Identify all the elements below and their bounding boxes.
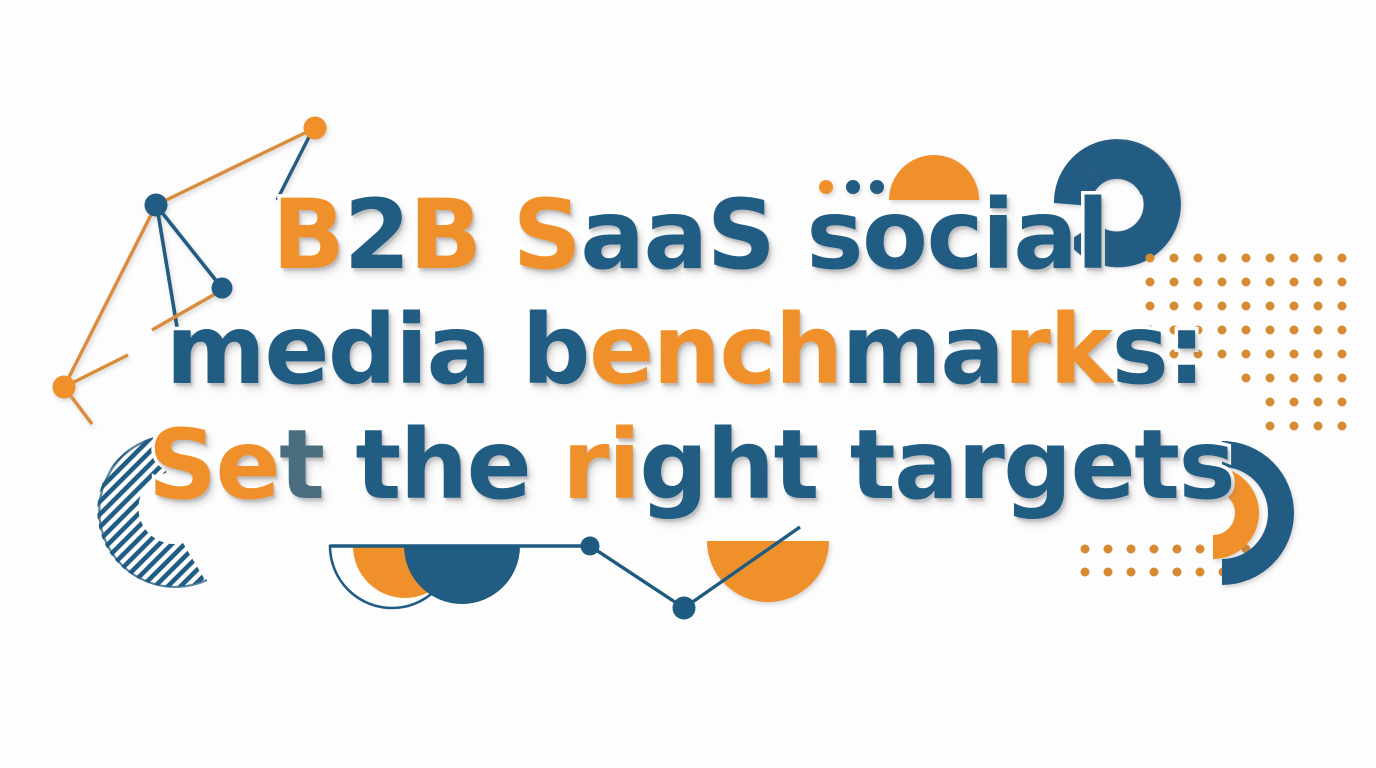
edge-orange-n2-n1 (156, 128, 315, 205)
edge-orange-n3-stub (152, 290, 222, 330)
semicircle-orange-top-icon (889, 155, 979, 200)
network-node-orange-1 (304, 117, 327, 140)
dot-grid-row (1146, 278, 1347, 287)
dot-grid-row (1146, 326, 1347, 335)
title-graphic-canvas: B2B SaaS social media benchmarks: Set th… (0, 0, 1376, 768)
dot-blue-2 (870, 180, 884, 194)
network-node-blue-2 (212, 278, 233, 299)
dot-grid-row (1266, 398, 1347, 407)
dot-blue-1 (846, 180, 860, 194)
dot-row-top-center (819, 180, 884, 194)
dot-orange (819, 180, 833, 194)
network-node-bottom-2 (673, 597, 696, 620)
striped-crescent-left (97, 435, 207, 587)
arc-orange-inner (1213, 467, 1259, 559)
decoration-layer (0, 0, 1376, 768)
dot-grid-row (1146, 350, 1347, 359)
edge-orange-n2-n4 (64, 205, 156, 387)
arc-blue-top-right-icon-body (1030, 116, 1206, 292)
network-node-blue-1 (145, 194, 168, 217)
network-node-orange-2 (53, 376, 76, 399)
network-node-bottom-1 (581, 537, 600, 556)
dot-grid-row (1146, 302, 1347, 311)
dot-grid-row (1242, 374, 1347, 383)
dot-grid-row (1266, 422, 1347, 431)
network-graph-top-left (53, 117, 327, 425)
hatched-arc-shape (97, 435, 205, 587)
edge-blue-n2-n3 (156, 205, 222, 288)
double-arc-bottom-right (1213, 441, 1294, 585)
dot-grid-row (1146, 254, 1347, 263)
dot-grid-right (1146, 254, 1347, 431)
